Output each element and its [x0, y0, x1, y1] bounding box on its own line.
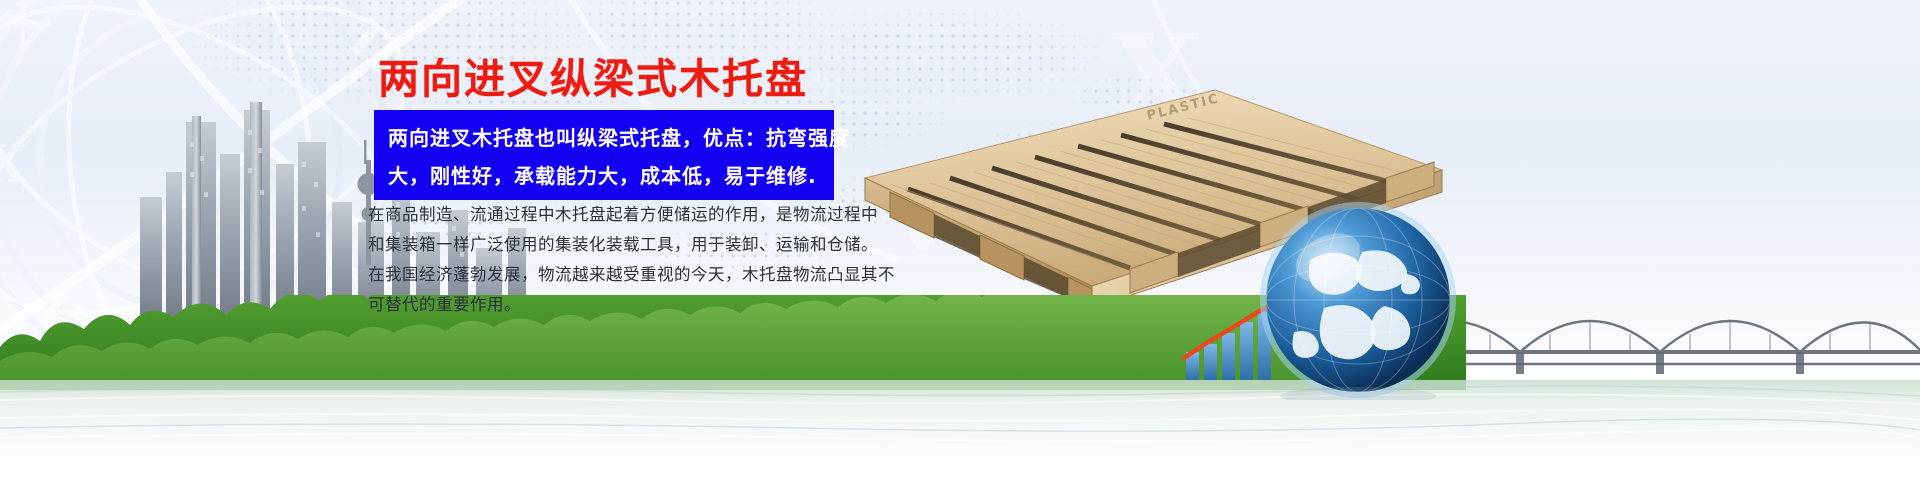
- description-paragraph: 在商品制造、流通过程中木托盘起着方便储运的作用，是物流过程中 和集装箱一样广泛使…: [368, 200, 848, 320]
- description-line-4: 可替代的重要作用。: [368, 290, 848, 320]
- highlight-line-2: 大，刚性好，承载能力大，成本低，易于维修.: [388, 157, 824, 195]
- page-title: 两向进叉纵梁式木托盘: [378, 56, 808, 102]
- description-line-3: 在我国经济蓬勃发展，物流越来越受重视的今天，木托盘物流凸显其不: [368, 260, 848, 290]
- blue-earth-globe: [1258, 200, 1458, 400]
- description-line-2: 和集装箱一样广泛使用的集装化装载工具，用于装卸、运输和仓储。: [368, 230, 848, 260]
- highlight-line-1: 两向进叉木托盘也叫纵梁式托盘，优点：抗弯强度: [388, 119, 824, 157]
- green-tree-band: [0, 295, 1920, 390]
- description-line-1: 在商品制造、流通过程中木托盘起着方便储运的作用，是物流过程中: [368, 200, 848, 230]
- svg-text:IX: IX: [0, 134, 27, 195]
- product-banner: XII II III IV VI VIII IX X X XI VII: [0, 0, 1920, 500]
- highlight-box: 两向进叉木托盘也叫纵梁式托盘，优点：抗弯强度 大，刚性好，承载能力大，成本低，易…: [374, 110, 834, 200]
- water-reflection-band: [0, 380, 1920, 500]
- svg-text:X: X: [0, 0, 60, 60]
